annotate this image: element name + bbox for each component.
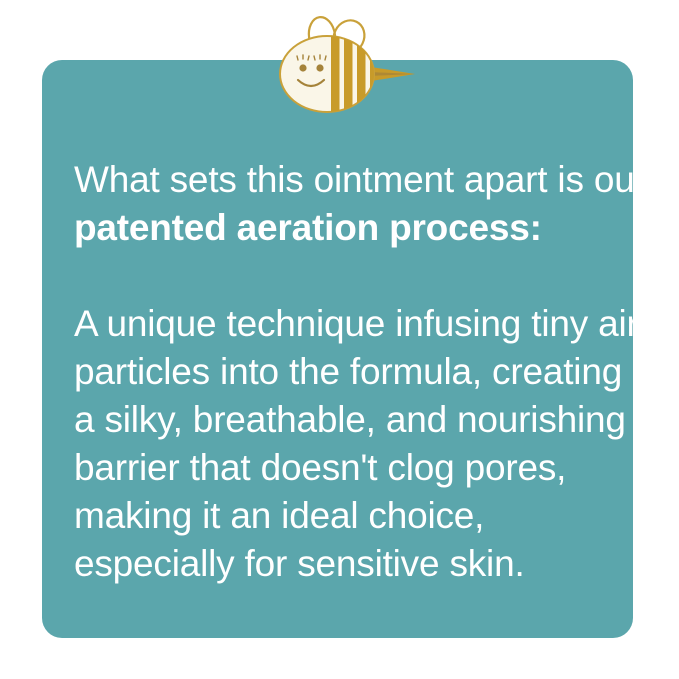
heading-paragraph: What sets this ointment apart is our pat… [74,156,619,252]
heading-line-2: patented aeration process: [74,204,619,252]
body-paragraph: A unique technique infusing tiny air par… [74,300,619,588]
promo-card-canvas: What sets this ointment apart is our pat… [0,0,679,679]
paragraph-gap [74,252,619,300]
body-line-1: A unique technique infusing tiny air [74,300,619,348]
heading-line-1: What sets this ointment apart is our [74,156,619,204]
body-line-2: particles into the formula, creating [74,348,619,396]
bee-right-wing-icon [328,15,370,59]
bee-left-wing-icon [306,15,337,56]
body-line-3: a silky, breathable, and nourishing [74,396,619,444]
card-text-block: What sets this ointment apart is our pat… [74,156,619,588]
body-line-6: especially for sensitive skin. [74,540,619,588]
body-line-5: making it an ideal choice, [74,492,619,540]
body-line-4: barrier that doesn't clog pores, [74,444,619,492]
